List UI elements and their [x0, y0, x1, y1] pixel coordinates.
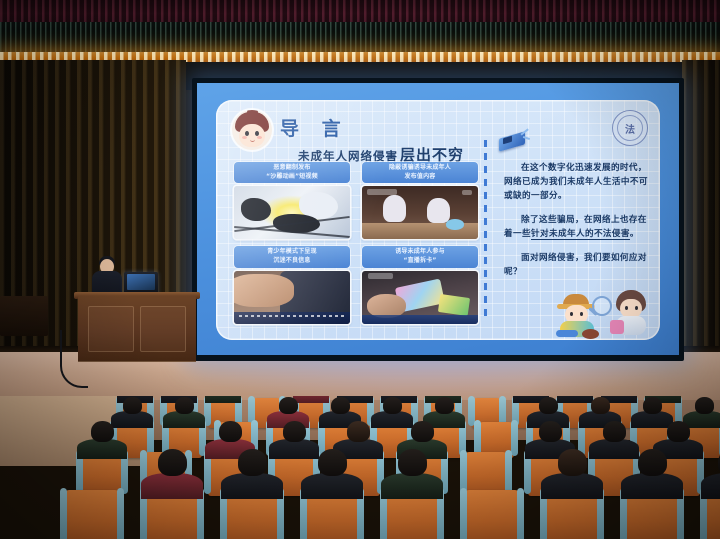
audience-member-shoulders — [77, 439, 127, 459]
avatar-cheek-left — [242, 136, 247, 139]
laptop-screen — [127, 274, 155, 290]
mascot-illustration — [548, 282, 656, 340]
cartoon-action-thumbnail — [234, 186, 350, 239]
curtain-fringe-texture — [0, 22, 720, 54]
audience-member-head — [347, 421, 370, 442]
mascot-eye-left — [570, 312, 573, 316]
avatar-cheek-right — [257, 136, 262, 139]
audience-member-head — [219, 421, 242, 442]
audience-member-head — [539, 421, 562, 442]
thumb-shape — [241, 198, 271, 221]
vertical-dashed-divider — [484, 140, 487, 316]
audience-member-head — [435, 397, 454, 414]
mascot-bag — [610, 320, 624, 334]
audience-member-head — [591, 397, 610, 414]
audience-member-head — [643, 397, 662, 414]
institution-seal: 法 — [612, 110, 648, 146]
audience-seat — [64, 490, 120, 539]
thumb-figure — [383, 195, 406, 223]
phone-card-pack-thumbnail — [362, 271, 478, 324]
evidence-card[interactable]: 诱导未成年人参与“直播拆卡” — [362, 246, 478, 323]
evidence-caption: 青少年模式下呈现沉迷不良信息 — [234, 246, 350, 267]
thumb-figure — [427, 198, 450, 223]
audience-member-head — [91, 421, 114, 442]
audience-member-head — [331, 397, 350, 414]
mascot-eye-left — [625, 306, 628, 310]
audience-member-shoulders — [381, 473, 443, 499]
audience-member-head — [279, 397, 298, 414]
audience-member-head — [558, 449, 587, 476]
podium-panel — [88, 306, 134, 352]
evidence-caption: 恶意翻制发布“沙雕动画”短视频 — [234, 162, 350, 183]
paragraph-2-tail: 。 — [630, 229, 639, 239]
thumb-subtitle-bar — [362, 315, 478, 323]
audience-member-head — [603, 421, 626, 442]
audience-member-shoulders — [293, 396, 329, 403]
audience-member-head — [398, 449, 427, 476]
seal-character: 法 — [625, 121, 635, 136]
podium-panel — [140, 306, 186, 352]
audience-member-shoulders — [589, 439, 639, 459]
audience-member-head — [175, 397, 194, 414]
paragraph-2-underlined: 针对未成年人的不法侵害 — [531, 229, 630, 240]
thumb-card-pack — [437, 294, 469, 316]
thumb-subtitle-bar — [234, 312, 350, 324]
thumb-arm — [234, 274, 294, 307]
audience-member-shoulders — [557, 396, 593, 403]
5g-card-icon — [496, 130, 530, 152]
subtitle-lead: 未成年人网络侵害 — [298, 149, 398, 163]
paragraph-2: 除了这些骗局，在网络上也存在着一些针对未成年人的不法侵害。 — [504, 214, 648, 242]
audience-member-shoulders — [141, 473, 203, 499]
audience-member-head — [318, 449, 347, 476]
mascot-eye-right — [580, 312, 583, 316]
audience-member-head — [638, 449, 667, 476]
paragraph-3: 面对网络侵害，我们要如何应对呢？ — [504, 252, 648, 280]
wooden-podium — [78, 296, 196, 362]
evidence-card-grid: 恶意翻制发布“沙雕动画”短视频 隐蔽诱骗诱导未成年人发布值内容 — [234, 162, 478, 324]
mascot-eye-right — [635, 306, 638, 310]
audience-member-shoulders — [621, 473, 683, 499]
floor-cable — [60, 330, 88, 388]
audience-seat — [464, 490, 520, 539]
audience-member-shoulders — [269, 439, 319, 459]
mascot-prop — [582, 329, 599, 339]
mascot-legs — [556, 330, 578, 337]
projection-screen: 导 言 未成年人网络侵害层出不穷 法 恶意翻制发布“沙雕动画”短视频 — [197, 83, 679, 355]
audience-member-shoulders — [221, 473, 283, 499]
audience-member-head — [238, 449, 267, 476]
paragraph-1: 在这个数字化迅速发展的时代，网络已成为我们未成年人生活中不可或缺的一部分。 — [504, 162, 648, 204]
audience-member-head — [383, 397, 402, 414]
evidence-card[interactable]: 隐蔽诱骗诱导未成年人发布值内容 — [362, 162, 478, 239]
stage-side-equipment — [0, 296, 48, 336]
audience-member-head — [695, 397, 714, 414]
cartoon-boy-avatar — [232, 110, 272, 150]
slide-title: 导 言 — [280, 114, 349, 141]
slide-body-text: 在这个数字化迅速发展的时代，网络已成为我们未成年人生活中不可或缺的一部分。 除了… — [504, 162, 648, 289]
auditorium-scene: 导 言 未成年人网络侵害层出不穷 法 恶意翻制发布“沙雕动画”短视频 — [0, 0, 720, 539]
seal-inner-ring: 法 — [617, 115, 643, 141]
indoor-livestream-thumbnail — [362, 186, 478, 239]
audience-member-shoulders — [301, 473, 363, 499]
curtain-side-right-texture — [682, 60, 720, 390]
audience-member-shoulders — [205, 396, 241, 403]
thumb-overlay-badge — [368, 273, 394, 279]
evidence-card[interactable]: 恶意翻制发布“沙雕动画”短视频 — [234, 162, 350, 239]
evidence-card[interactable]: 青少年模式下呈现沉迷不良信息 — [234, 246, 350, 323]
audience-member-head — [158, 449, 187, 476]
mascot-girl — [608, 290, 654, 338]
audience-member-head — [667, 421, 690, 442]
thumb-overlay-badge — [462, 190, 472, 196]
audience-area — [0, 396, 720, 539]
audience-member-head — [283, 421, 306, 442]
hands-phone-closeup-thumbnail — [234, 271, 350, 324]
thumb-object — [446, 219, 465, 230]
evidence-caption: 隐蔽诱骗诱导未成年人发布值内容 — [362, 162, 478, 183]
audience-member-shoulders — [541, 473, 603, 499]
audience-member-head — [411, 421, 434, 442]
evidence-caption: 诱导未成年人参与“直播拆卡” — [362, 246, 478, 267]
audience-member-head — [539, 397, 558, 414]
slide-card: 导 言 未成年人网络侵害层出不穷 法 恶意翻制发布“沙雕动画”短视频 — [216, 100, 660, 340]
audience-member-head — [123, 397, 142, 414]
